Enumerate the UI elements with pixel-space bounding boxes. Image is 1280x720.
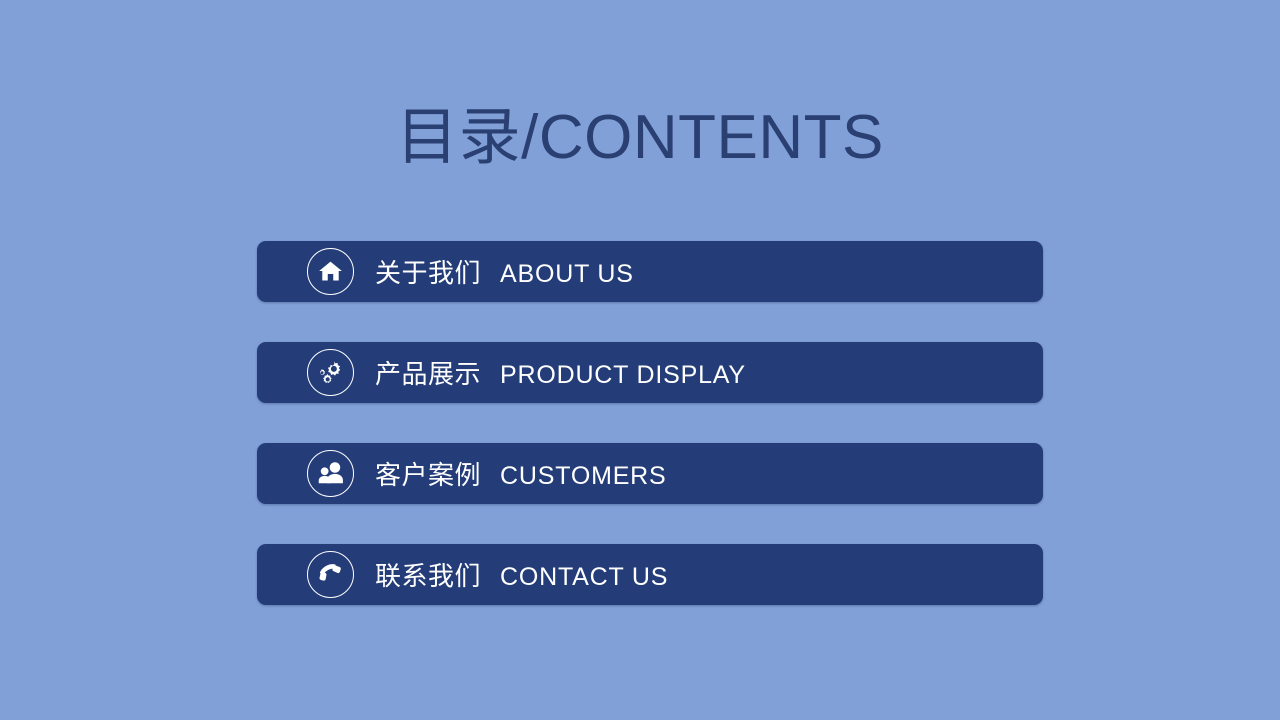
contents-item-label-en: CUSTOMERS: [500, 462, 666, 491]
contents-item-labels: 客户案例 CUSTOMERS: [375, 455, 667, 492]
home-icon: [307, 248, 354, 295]
gears-icon: [307, 349, 354, 396]
contents-list: 关于我们 ABOUT US 产品展示 PRODUCT DISPLAY: [257, 241, 1043, 605]
contents-item-labels: 产品展示 PRODUCT DISPLAY: [375, 354, 746, 391]
contents-item-label-en: CONTACT US: [500, 563, 668, 592]
contents-item-product-display[interactable]: 产品展示 PRODUCT DISPLAY: [257, 342, 1043, 403]
contents-item-label-cn: 客户案例: [375, 455, 481, 492]
contents-item-labels: 关于我们 ABOUT US: [375, 253, 634, 290]
contents-item-labels: 联系我们 CONTACT US: [375, 556, 668, 593]
people-icon: [307, 450, 354, 497]
contents-item-label-en: PRODUCT DISPLAY: [500, 361, 746, 390]
contents-item-contact-us[interactable]: 联系我们 CONTACT US: [257, 544, 1043, 605]
contents-item-label-en: ABOUT US: [500, 260, 634, 289]
contents-item-label-cn: 产品展示: [375, 354, 481, 391]
contents-slide: 目录/CONTENTS 关于我们 ABOUT US: [0, 0, 1280, 720]
page-title: 目录/CONTENTS: [0, 99, 1280, 177]
contents-item-customers[interactable]: 客户案例 CUSTOMERS: [257, 443, 1043, 504]
contents-item-label-cn: 联系我们: [375, 556, 481, 593]
phone-icon: [307, 551, 354, 598]
contents-item-about-us[interactable]: 关于我们 ABOUT US: [257, 241, 1043, 302]
contents-item-label-cn: 关于我们: [375, 253, 481, 290]
